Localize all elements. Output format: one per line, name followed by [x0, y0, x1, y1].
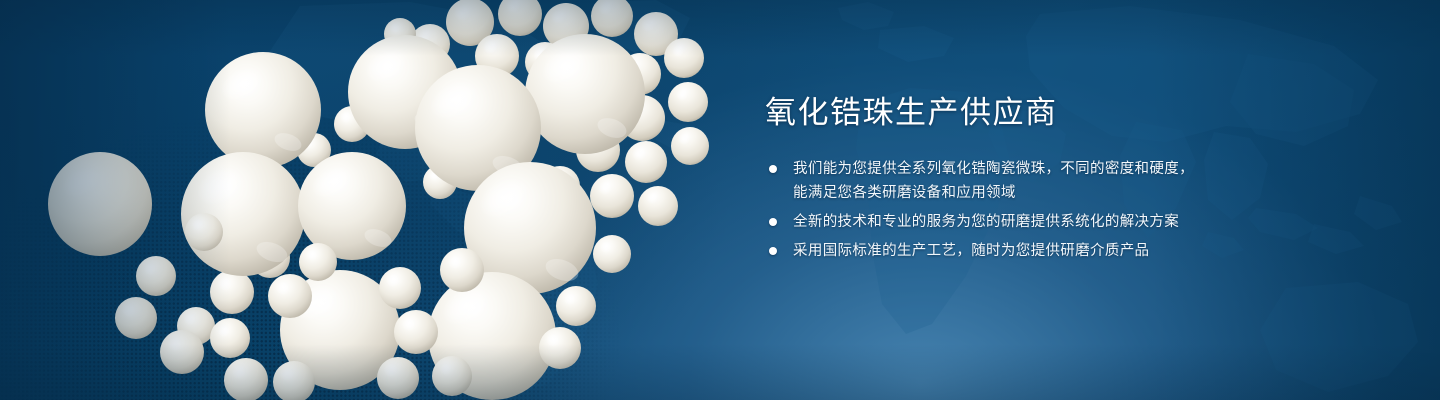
hero-banner: 氧化锆珠生产供应商 我们能为您提供全系列氧化锆陶瓷微珠，不同的密度和硬度， 能满… [0, 0, 1440, 400]
list-item-line1: 全新的技术和专业的服务为您的研磨提供系统化的解决方案 [793, 214, 1179, 230]
dot-bullet-icon [769, 218, 777, 226]
list-item-line1: 采用国际标准的生产工艺，随时为您提供研磨介质产品 [793, 243, 1149, 259]
list-item: 采用国际标准的生产工艺，随时为您提供研磨介质产品 [765, 239, 1325, 263]
feature-list: 我们能为您提供全系列氧化锆陶瓷微珠，不同的密度和硬度， 能满足您各类研磨设备和应… [765, 157, 1325, 263]
zirconia-beads-image [0, 0, 760, 400]
list-item-text: 全新的技术和专业的服务为您的研磨提供系统化的解决方案 [793, 210, 1325, 234]
list-item: 全新的技术和专业的服务为您的研磨提供系统化的解决方案 [765, 210, 1325, 234]
dot-bullet-icon [769, 247, 777, 255]
list-item-text: 采用国际标准的生产工艺，随时为您提供研磨介质产品 [793, 239, 1325, 263]
list-item: 我们能为您提供全系列氧化锆陶瓷微珠，不同的密度和硬度， 能满足您各类研磨设备和应… [765, 157, 1325, 205]
list-item-line2: 能满足您各类研磨设备和应用领域 [793, 181, 1325, 205]
list-item-line1: 我们能为您提供全系列氧化锆陶瓷微珠，不同的密度和硬度， [793, 161, 1194, 177]
page-title: 氧化锆珠生产供应商 [765, 96, 1325, 131]
banner-copy: 氧化锆珠生产供应商 我们能为您提供全系列氧化锆陶瓷微珠，不同的密度和硬度， 能满… [765, 96, 1325, 263]
dot-bullet-icon [769, 165, 777, 173]
list-item-text: 我们能为您提供全系列氧化锆陶瓷微珠，不同的密度和硬度， 能满足您各类研磨设备和应… [793, 157, 1325, 205]
